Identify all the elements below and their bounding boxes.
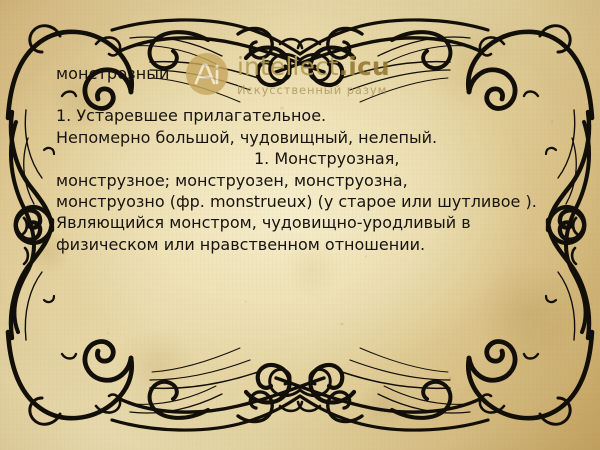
dictionary-article: монстрозный 1. Устаревшее прилагательное… xyxy=(56,63,566,255)
entry-headword: монстрозный xyxy=(56,63,566,84)
headword-spacer xyxy=(56,84,566,105)
entry-line: 1. Монструозная, xyxy=(56,148,566,169)
entry-line: Непомерно большой, чудовищный, нелепый. xyxy=(56,127,566,148)
entry-line: монструзное; монструозен, монструозна, xyxy=(56,170,566,191)
entry-line: Являющийся монстром, чудовищно-уродливый… xyxy=(56,212,566,233)
entry-line: 1. Устаревшее прилагательное. xyxy=(56,105,566,126)
dictionary-entry-card: intellect.icu Искусственный разум монстр… xyxy=(0,0,600,450)
entry-line: физическом или нравственном отношении. xyxy=(56,234,566,255)
entry-line: монструозно (фр. monstrueux) (у старое и… xyxy=(56,191,566,212)
